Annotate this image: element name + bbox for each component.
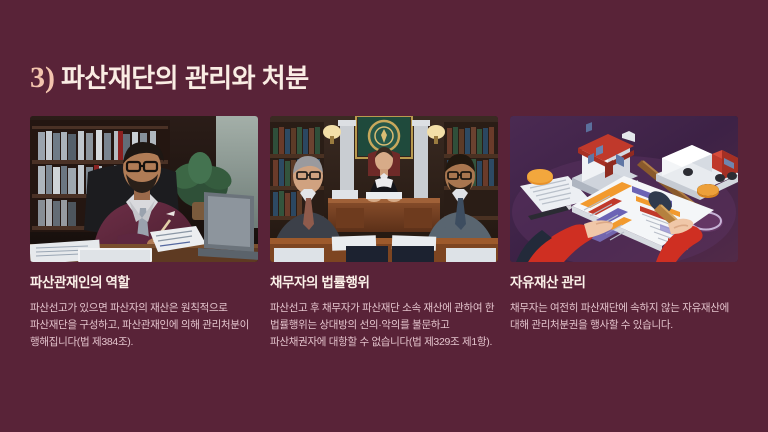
title-text: 파산재단의 관리와 처분: [61, 58, 309, 95]
page-title: 3) 파산재단의 관리와 처분: [30, 58, 309, 95]
slide-root: 3) 파산재단의 관리와 처분: [0, 0, 768, 432]
card-columns: 파산관재인의 역할 파산선고가 있으면 파산자의 재산은 원칙적으로 파산재단을…: [30, 116, 738, 351]
card-1-heading: 파산관재인의 역할: [30, 275, 258, 291]
card-3-heading: 자유재산 관리: [510, 275, 738, 291]
lawyer-at-desk-illustration: [30, 116, 258, 262]
card-2: 채무자의 법률행위 파산선고 후 채무자가 파산재단 소속 재산에 관하여 한 …: [270, 116, 498, 351]
card-2-image: [270, 116, 498, 262]
courtroom-judge-illustration: [270, 116, 498, 262]
card-3-body: 채무자는 여전히 파산재단에 속하지 않는 자유재산에 대해 관리처분권을 행사…: [510, 300, 738, 334]
card-2-body: 파산선고 후 채무자가 파산재단 소속 재산에 관하여 한 법률행위는 상대방의…: [270, 300, 498, 351]
card-3: 자유재산 관리 채무자는 여전히 파산재단에 속하지 않는 자유재산에 대해 관…: [510, 116, 738, 351]
card-1: 파산관재인의 역할 파산선고가 있으면 파산자의 재산은 원칙적으로 파산재단을…: [30, 116, 258, 351]
card-1-body: 파산선고가 있으면 파산자의 재산은 원칙적으로 파산재단을 구성하고, 파산관…: [30, 300, 258, 351]
title-number: 3): [30, 61, 55, 95]
card-1-image: [30, 116, 258, 262]
isometric-property-documents-illustration: [510, 116, 738, 262]
card-3-image: [510, 116, 738, 262]
card-2-heading: 채무자의 법률행위: [270, 275, 498, 291]
